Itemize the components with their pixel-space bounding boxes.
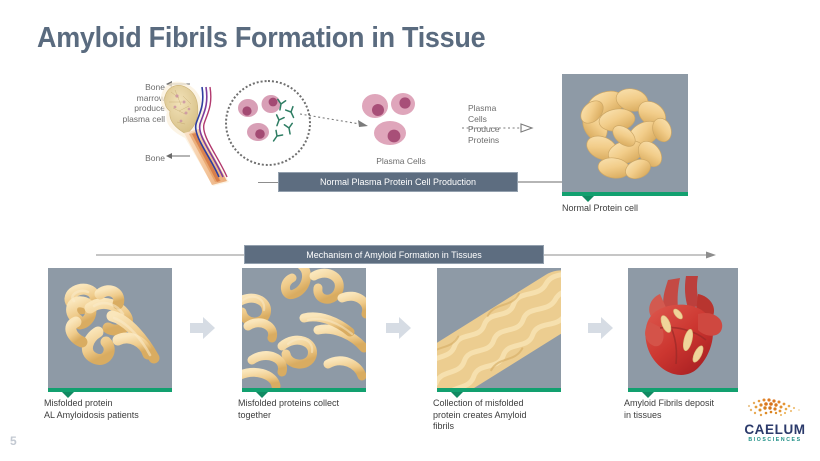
normal-production-banner: Normal Plasma Protein Cell Production: [278, 172, 518, 192]
caelum-logo: CAELUM BIOSCIENCES: [735, 392, 815, 450]
banner-left-line: [258, 182, 280, 183]
step-arrow-3-icon: [588, 315, 614, 341]
step-1-caption: Misfolded protein AL Amyloidosis patient…: [44, 398, 194, 421]
normal-protein-panel: [562, 74, 688, 196]
page-title: Amyloid Fibrils Formation in Tissue: [37, 22, 485, 55]
step-3-caption: Collection of misfolded protein creates …: [433, 398, 583, 433]
step-arrow-2-icon: [386, 315, 412, 341]
step-2-caption: Misfolded proteins collect together: [238, 398, 388, 421]
normal-protein-caption: Normal Protein cell: [562, 203, 712, 215]
mechanism-banner: Mechanism of Amyloid Formation in Tissue…: [244, 245, 544, 264]
step-arrow-1-icon: [190, 315, 216, 341]
normal-protein-notch-icon: [582, 196, 594, 202]
step-2-panel: [242, 268, 366, 392]
step-3-panel: [437, 268, 561, 392]
produce-proteins-arrow-icon: [462, 123, 534, 133]
slide-canvas: Amyloid Fibrils Formation in Tissue Bone…: [0, 0, 820, 461]
step-1-panel: [48, 268, 172, 392]
plasma-cells-cluster: [358, 92, 428, 154]
step-4-panel: [628, 268, 738, 392]
caelum-swoosh-icon: [735, 392, 815, 422]
normal-protein-accent-bar: [562, 192, 688, 196]
caelum-logo-name: CAELUM: [735, 422, 815, 437]
plasma-cell-magnifier: [225, 80, 311, 166]
plasma-cells-caption: Plasma Cells: [366, 156, 436, 167]
caelum-logo-subtitle: BIOSCIENCES: [735, 437, 815, 443]
page-number: 5: [10, 434, 17, 448]
